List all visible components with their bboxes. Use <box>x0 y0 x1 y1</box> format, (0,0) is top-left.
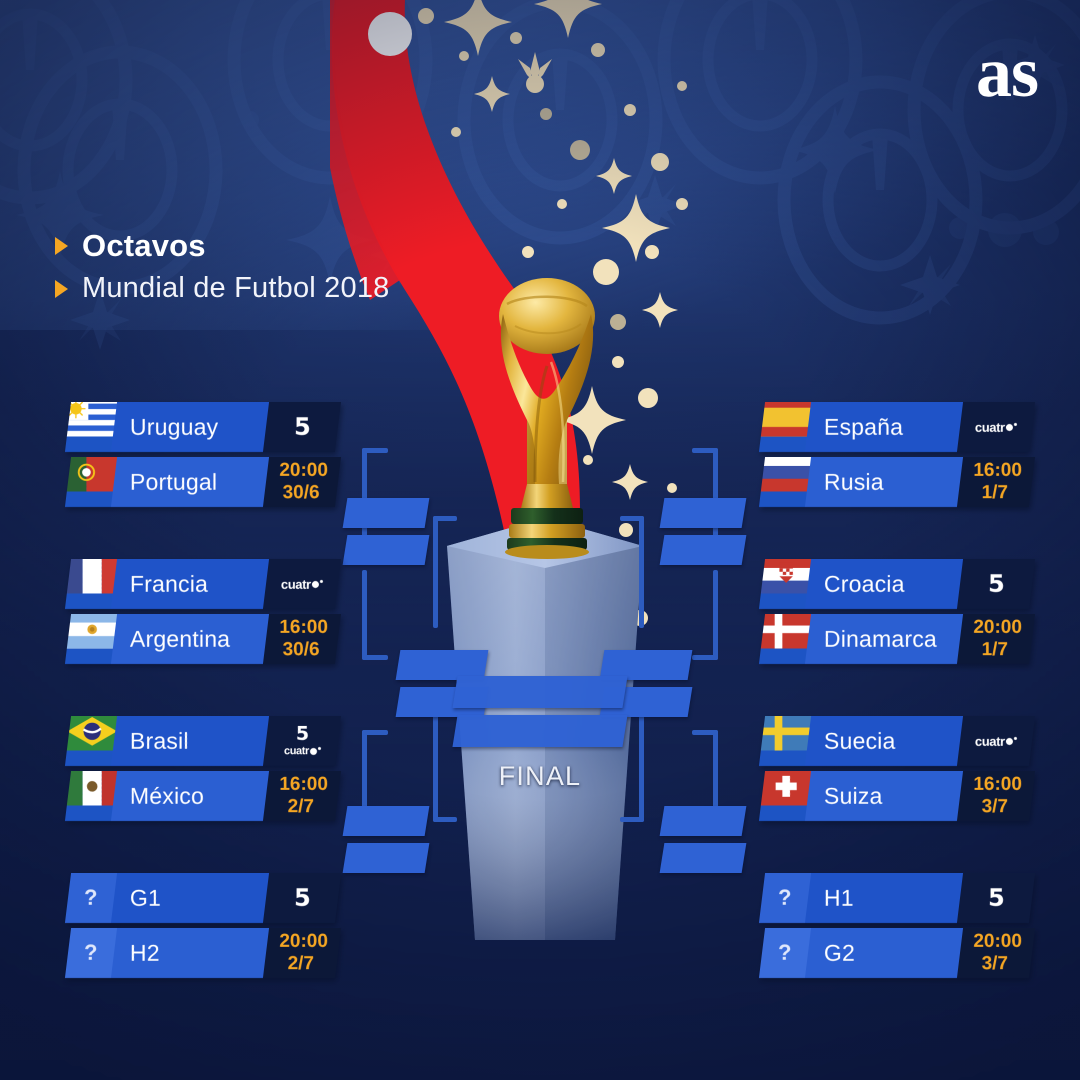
cuatro-icon: cuatr <box>975 735 1017 748</box>
final-label: FINAL <box>455 761 625 792</box>
page-title: Octavos <box>82 228 206 264</box>
match-row-bottom[interactable]: México 16:00 2/7 <box>65 771 341 821</box>
flag-placeholder-icon: ? <box>65 928 117 978</box>
match-row-bottom[interactable]: Suiza 16:00 3/7 <box>759 771 1035 821</box>
team-name-cell: Portugal <box>111 457 269 507</box>
channel-badge[interactable]: cuatr <box>263 559 341 609</box>
telecinco-5-icon: 5 <box>295 725 308 744</box>
triangle-bullet-icon <box>55 237 68 255</box>
qf-slot-pair-left-1[interactable] <box>345 498 427 572</box>
kickoff-time: 16:00 <box>973 461 1022 482</box>
telecinco-5-icon: 5 <box>988 886 1005 910</box>
flag-portugal <box>65 457 117 507</box>
qf-slot[interactable] <box>660 498 747 528</box>
flag-placeholder-icon: ? <box>759 873 811 923</box>
flag-mexico <box>65 771 117 821</box>
flag-brasil <box>65 716 117 766</box>
flag-espana <box>759 402 811 452</box>
match-row-top[interactable]: España cuatr <box>759 402 1035 452</box>
kickoff-date: 30/6 <box>282 483 319 504</box>
flag-argentina <box>65 614 117 664</box>
match-espana-rusia[interactable]: España cuatr Rusia 16:00 1/7 <box>762 402 1032 507</box>
kickoff-date: 3/7 <box>981 954 1007 975</box>
world-cup-trophy-icon <box>455 270 640 570</box>
kickoff-date: 1/7 <box>981 640 1007 661</box>
match-row-top[interactable]: Brasil 5 cuatr <box>65 716 341 766</box>
channel-badge[interactable]: cuatr <box>957 716 1035 766</box>
kickoff-time: 20:00 <box>279 932 328 953</box>
flag-francia <box>65 559 117 609</box>
worldcup-bracket-infographic: as Octavos Mundial de Futbol 2018 <box>0 0 1080 1080</box>
channel-badge-dual[interactable]: 5 cuatr <box>263 716 341 766</box>
dual-channel-group: 5 cuatr <box>284 725 321 757</box>
team-name-cell: España <box>805 402 963 452</box>
flag-suecia <box>759 716 811 766</box>
kickoff-time: 16:00 <box>279 775 328 796</box>
channel-badge[interactable]: 5 <box>263 873 341 923</box>
team-name-cell: Suecia <box>805 716 963 766</box>
final-block[interactable]: FINAL <box>455 676 625 792</box>
team-name-cell: Brasil <box>111 716 269 766</box>
match-uruguay-portugal[interactable]: Uruguay 5 Portugal 20:00 30/6 <box>68 402 338 507</box>
qf-slot-pair-right-2[interactable] <box>662 806 744 880</box>
telecinco-5-icon: 5 <box>294 415 311 439</box>
cuatro-icon: cuatr <box>975 421 1017 434</box>
team-name-cell: H2 <box>111 928 269 978</box>
match-row-top[interactable]: Suecia cuatr <box>759 716 1035 766</box>
flag-dinamarca <box>759 614 811 664</box>
qf-slot[interactable] <box>343 843 430 873</box>
final-slot-top[interactable] <box>452 676 627 708</box>
title-row-main: Octavos <box>55 228 390 264</box>
flag-croacia <box>759 559 811 609</box>
kickoff-badge: 16:00 1/7 <box>957 457 1035 507</box>
flag-uruguay <box>65 402 117 452</box>
kickoff-time: 16:00 <box>973 775 1022 796</box>
match-row-top[interactable]: ? H1 5 <box>759 873 1035 923</box>
flag-placeholder-icon: ? <box>759 928 811 978</box>
team-name-cell: Francia <box>111 559 269 609</box>
kickoff-date: 1/7 <box>981 483 1007 504</box>
team-name-cell: Argentina <box>111 614 269 664</box>
qf-slot[interactable] <box>660 806 747 836</box>
kickoff-date: 30/6 <box>282 640 319 661</box>
channel-badge[interactable]: cuatr <box>957 402 1035 452</box>
team-name-cell: G2 <box>805 928 963 978</box>
team-name-cell: H1 <box>805 873 963 923</box>
match-row-bottom[interactable]: Portugal 20:00 30/6 <box>65 457 341 507</box>
qf-slot-pair-right-1[interactable] <box>662 498 744 572</box>
match-brasil-mexico[interactable]: Brasil 5 cuatr México 16:00 <box>68 716 338 821</box>
team-name-cell: Dinamarca <box>805 614 963 664</box>
red-ribbon-swoosh <box>330 0 750 550</box>
kickoff-time: 20:00 <box>279 461 328 482</box>
match-francia-argentina[interactable]: Francia cuatr Argentina 16:00 30/6 <box>68 559 338 664</box>
cuatro-icon: cuatr <box>284 746 321 757</box>
cuatro-icon: cuatr <box>281 578 323 591</box>
kickoff-badge: 20:00 1/7 <box>957 614 1035 664</box>
telecinco-5-icon: 5 <box>988 572 1005 596</box>
kickoff-date: 3/7 <box>981 797 1007 818</box>
kickoff-time: 20:00 <box>973 932 1022 953</box>
match-row-top[interactable]: Croacia 5 <box>759 559 1035 609</box>
qf-slot[interactable] <box>343 535 430 565</box>
qf-slot[interactable] <box>343 806 430 836</box>
page-title-block: Octavos Mundial de Futbol 2018 <box>55 228 390 313</box>
qf-slot[interactable] <box>343 498 430 528</box>
page-subtitle: Mundial de Futbol 2018 <box>82 272 390 305</box>
match-row-bottom[interactable]: Rusia 16:00 1/7 <box>759 457 1035 507</box>
team-name-cell: Rusia <box>805 457 963 507</box>
team-name-cell: Uruguay <box>111 402 269 452</box>
channel-badge[interactable]: 5 <box>957 873 1035 923</box>
qf-slot-pair-left-2[interactable] <box>345 806 427 880</box>
triangle-bullet-icon <box>55 280 68 298</box>
as-logo[interactable]: as <box>976 36 1038 108</box>
match-suecia-suiza[interactable]: Suecia cuatr Suiza 16:00 3/7 <box>762 716 1032 821</box>
kickoff-badge: 16:00 3/7 <box>957 771 1035 821</box>
final-slot-bottom[interactable] <box>452 715 627 747</box>
match-row-bottom[interactable]: ? H2 20:00 2/7 <box>65 928 341 978</box>
match-row-bottom[interactable]: Argentina 16:00 30/6 <box>65 614 341 664</box>
match-row-bottom[interactable]: ? G2 20:00 3/7 <box>759 928 1035 978</box>
kickoff-badge: 20:00 30/6 <box>263 457 341 507</box>
team-name-cell: Suiza <box>805 771 963 821</box>
match-g1-h2[interactable]: ? G1 5 ? H2 20:00 2/7 <box>68 873 338 978</box>
flag-rusia <box>759 457 811 507</box>
telecinco-5-icon: 5 <box>294 886 311 910</box>
team-name-cell: G1 <box>111 873 269 923</box>
qf-slot[interactable] <box>660 535 747 565</box>
match-croacia-dinamarca[interactable]: Croacia 5 Dinamarca 20:00 1/7 <box>762 559 1032 664</box>
match-row-top[interactable]: ? G1 5 <box>65 873 341 923</box>
channel-badge[interactable]: 5 <box>263 402 341 452</box>
kickoff-badge: 16:00 30/6 <box>263 614 341 664</box>
channel-badge[interactable]: 5 <box>957 559 1035 609</box>
sparkle-confetti-layer <box>330 0 800 690</box>
title-row-sub: Mundial de Futbol 2018 <box>55 272 390 305</box>
qf-slot[interactable] <box>660 843 747 873</box>
match-row-bottom[interactable]: Dinamarca 20:00 1/7 <box>759 614 1035 664</box>
kickoff-date: 2/7 <box>287 954 313 975</box>
match-h1-g2[interactable]: ? H1 5 ? G2 20:00 3/7 <box>762 873 1032 978</box>
kickoff-badge: 20:00 2/7 <box>263 928 341 978</box>
kickoff-time: 16:00 <box>279 618 328 639</box>
match-row-top[interactable]: Francia cuatr <box>65 559 341 609</box>
match-row-top[interactable]: Uruguay 5 <box>65 402 341 452</box>
kickoff-badge: 20:00 3/7 <box>957 928 1035 978</box>
kickoff-badge: 16:00 2/7 <box>263 771 341 821</box>
kickoff-time: 20:00 <box>973 618 1022 639</box>
kickoff-date: 2/7 <box>287 797 313 818</box>
team-name-cell: Croacia <box>805 559 963 609</box>
bracket-column-right: España cuatr Rusia 16:00 1/7 <box>762 402 1032 983</box>
flag-suiza <box>759 771 811 821</box>
bracket-column-left: Uruguay 5 Portugal 20:00 30/6 <box>68 402 338 983</box>
team-name-cell: México <box>111 771 269 821</box>
flag-placeholder-icon: ? <box>65 873 117 923</box>
